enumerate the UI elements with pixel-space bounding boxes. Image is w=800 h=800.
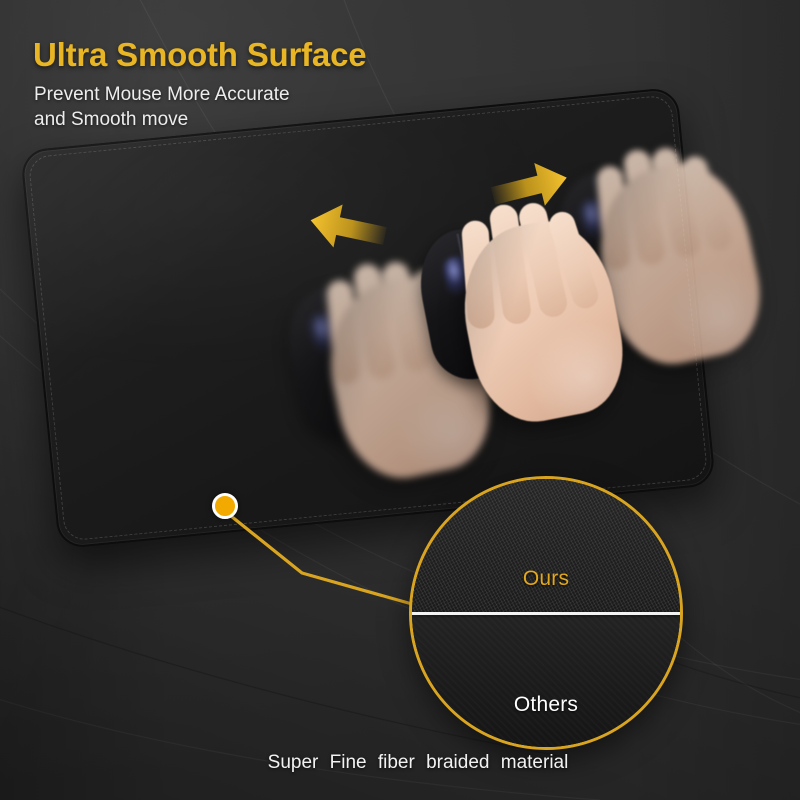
magnifier-ours-surface — [412, 479, 680, 613]
product-feature-image: Ours Others Ultra Smooth Surface Prevent… — [0, 0, 800, 800]
ours-label: Ours — [412, 567, 680, 591]
callout-dot — [212, 493, 238, 519]
material-comparison-magnifier: Ours Others — [409, 476, 683, 750]
hand-mouse-frame-center — [403, 188, 675, 467]
page-subtitle: Prevent Mouse More Accurate and Smooth m… — [34, 82, 290, 132]
magnifier-others-surface — [412, 613, 680, 747]
magnifier-divider-line — [412, 612, 680, 615]
subtitle-line-2: and Smooth move — [34, 107, 290, 132]
material-caption: Super Fine fiber braided material — [0, 752, 800, 774]
others-label: Others — [412, 693, 680, 717]
material-caption-text: Super Fine fiber braided material — [232, 752, 569, 774]
subtitle-line-1: Prevent Mouse More Accurate — [34, 82, 290, 107]
page-title: Ultra Smooth Surface — [33, 36, 366, 74]
